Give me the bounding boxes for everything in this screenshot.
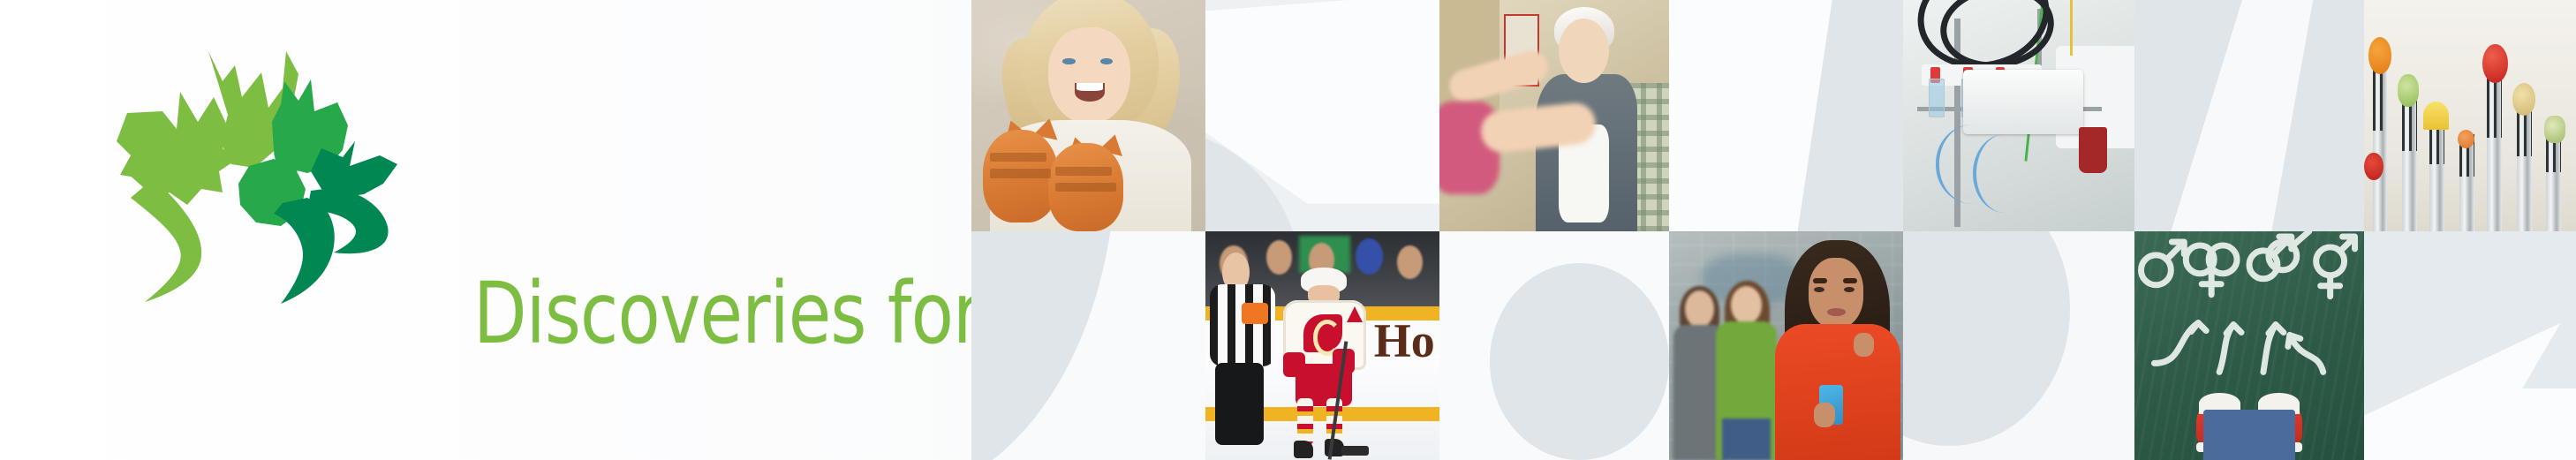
photo-girl-with-kittens [971,0,1205,231]
site-banner: Discoveries for life [0,0,2576,460]
watermark-panel-diagonal [1669,0,1903,231]
photo-collage: Ho [971,0,2576,460]
photo-forks-with-vegetables [2364,0,2576,231]
photo-chalkboard-gender [2134,231,2364,460]
maple-leaf-people-logo[interactable] [46,16,434,307]
photo-hockey-player: Ho [1205,231,1439,460]
watermark-panel-arrow [2364,231,2576,460]
photo-icu-equipment [1903,0,2134,231]
watermark-panel-curve [971,231,1205,460]
watermark-panel-circle [1903,231,2134,460]
photo-teen-bullying [1669,231,1903,460]
watermark-panel-wedge [2134,0,2364,231]
brand-block: Discoveries for life [0,0,971,460]
watermark-panel-leaf-petal [1205,0,1439,231]
photo-seniors-dancing [1439,0,1669,231]
watermark-panel-ellipse [1439,231,1669,460]
